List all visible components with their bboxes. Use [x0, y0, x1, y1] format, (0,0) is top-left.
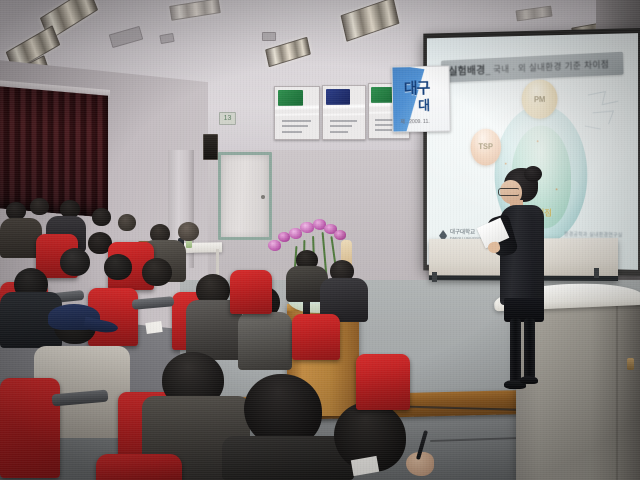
frame-text-line [282, 131, 302, 133]
certificate-frame [322, 85, 366, 140]
photograph: 13 실험배경_ 국내 · 외 실내환경 기준 차이점 차이점 PM TSP [0, 0, 640, 480]
slide-title: 실험배경_ 국내 · 외 실내환경 기준 차이점 [441, 56, 609, 79]
slide-particle-dot [536, 140, 538, 142]
presenter-leg [524, 318, 535, 380]
audience-head [142, 258, 172, 286]
frame-text-line [330, 125, 353, 127]
presenter-shoe [520, 376, 538, 384]
slide-title-bar: 실험배경_ 국내 · 외 실내환경 기준 차이점 [441, 52, 623, 82]
slide-sketch-marks [581, 81, 629, 143]
event-banner: 대구 대 제 . 2009. 11. [391, 65, 450, 132]
auditorium-chair [292, 314, 340, 360]
audience-head [30, 198, 49, 215]
certificate-frame [274, 86, 320, 140]
banner-date: 제 . 2009. 11. [400, 118, 429, 126]
audience [0, 196, 430, 480]
audience-head [60, 248, 90, 276]
presenter-hair-bun [524, 166, 542, 182]
frame-header-block [326, 89, 350, 105]
banner-line2: 대 [418, 95, 430, 114]
handout-paper [351, 456, 379, 476]
frame-glare [274, 112, 320, 116]
chair-armrest [132, 296, 175, 310]
slide-oval-tsp: TSP [471, 129, 501, 166]
frame-glare [274, 104, 320, 110]
frame-glare [322, 112, 366, 116]
frame-header-block [278, 90, 304, 106]
auditorium-chair [356, 354, 410, 410]
slide-oval-tsp-label: TSP [478, 143, 492, 152]
presenter [486, 168, 560, 390]
room-number-sign: 13 [219, 112, 236, 125]
audience-body [238, 312, 292, 370]
audience-head [92, 208, 111, 226]
auditorium-chair [96, 454, 182, 480]
lectern-latch [627, 358, 634, 370]
auditorium-chair [0, 378, 60, 478]
counter-leg [432, 272, 437, 282]
glasses-icon [498, 188, 520, 196]
ceiling-vent [262, 32, 276, 41]
audience-head [118, 214, 136, 231]
slide-logo-kr: 대구대학교 [450, 229, 475, 235]
frame-text-line [282, 120, 311, 122]
slide-oval-pm-label: PM [534, 95, 545, 104]
audience-head [104, 254, 132, 280]
frame-text-line [330, 131, 348, 133]
frame-text-line [375, 129, 392, 131]
frame-text-line [282, 125, 308, 127]
auditorium-chair [230, 270, 272, 314]
frame-text-line [330, 120, 357, 122]
presenter-leg [510, 318, 521, 384]
audience-head [178, 222, 199, 241]
counter-leg [594, 268, 599, 278]
frame-glare [322, 104, 366, 110]
wall-speaker [203, 134, 218, 160]
handout-paper [145, 321, 162, 334]
